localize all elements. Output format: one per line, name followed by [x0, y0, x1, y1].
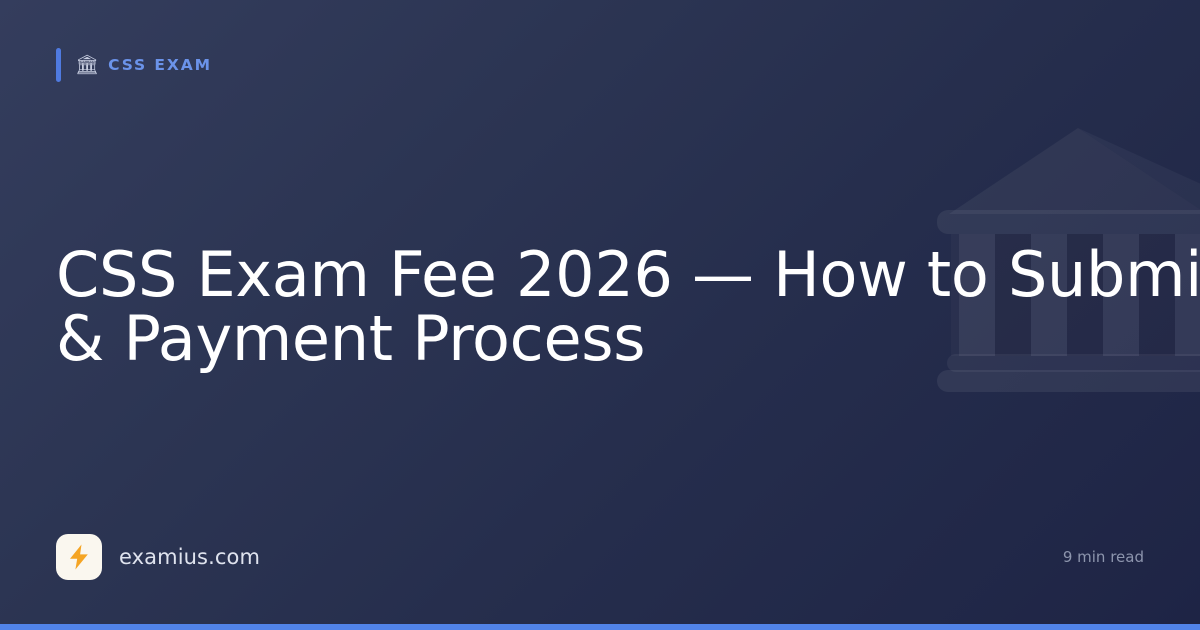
bottom-accent-bar — [0, 624, 1200, 630]
category-badge: 🏛 CSS EXAM — [56, 46, 212, 84]
read-time: 9 min read — [1063, 548, 1144, 566]
brand-logo — [56, 534, 102, 580]
badge-accent-bar — [56, 48, 61, 82]
og-card: 🏛 CSS EXAM CSS Exam Fee 2026 — How to Su… — [0, 0, 1200, 630]
card-footer: examius.com 9 min read — [56, 533, 1144, 581]
site-name: examius.com — [119, 545, 260, 569]
page-title: CSS Exam Fee 2026 — How to Submit & Paym… — [56, 243, 986, 371]
page-title-line-1: CSS Exam Fee 2026 — How to Submit — [56, 243, 986, 307]
category-badge-label: CSS EXAM — [108, 56, 212, 74]
bank-building-icon: 🏛 — [75, 56, 99, 75]
brand: examius.com — [56, 534, 260, 580]
page-title-line-2: & Payment Process — [56, 307, 986, 371]
